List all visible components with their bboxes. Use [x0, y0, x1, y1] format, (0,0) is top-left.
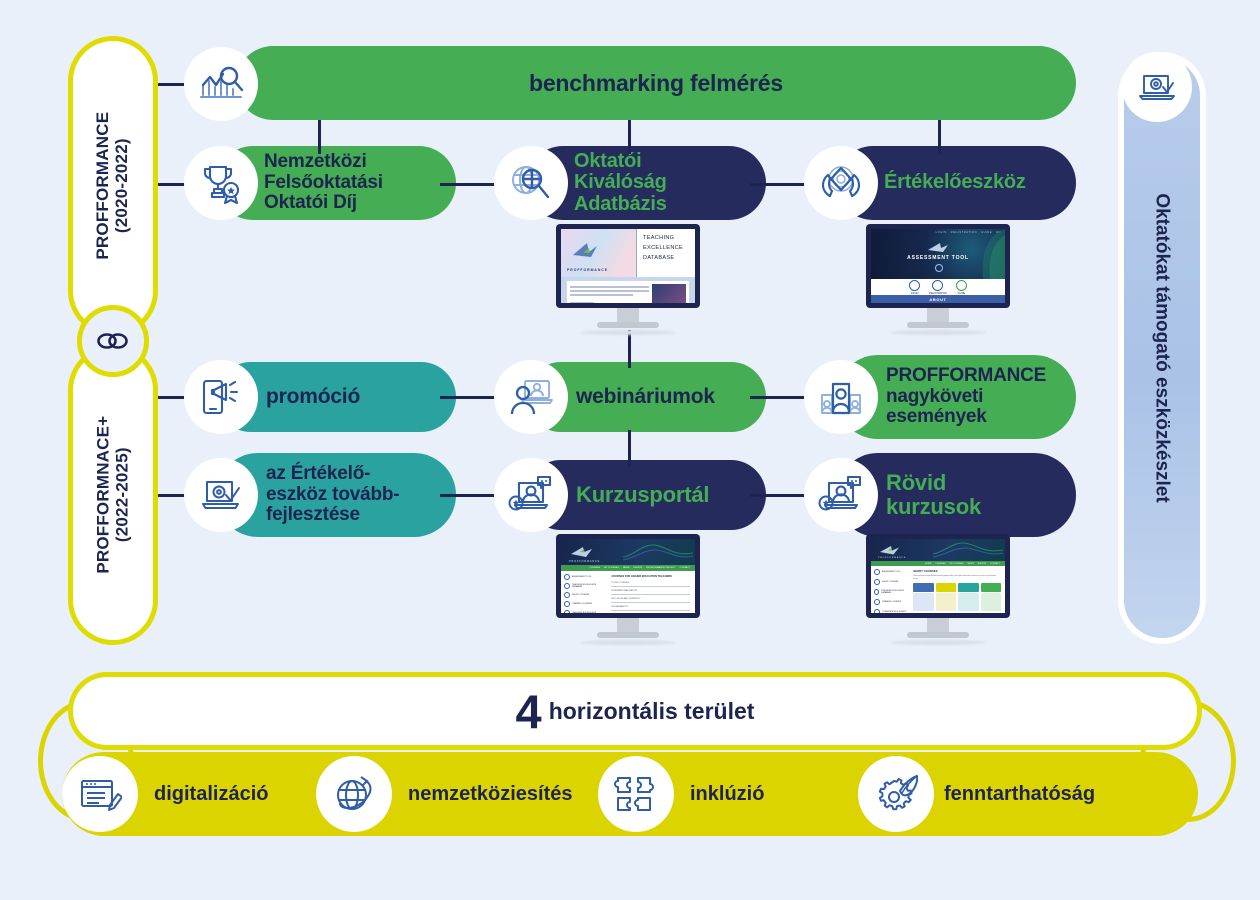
connector-promotion-to-webinars: [440, 396, 502, 399]
monitor-course-portal: PROFFORMANCE COURSES MY COURSES NEWS EVE…: [556, 534, 700, 645]
rail-profformance-label: PROFFORMANCE (2020-2022): [94, 112, 131, 260]
horizontal-area-label-digitalizacio: digitalizáció: [154, 783, 268, 806]
assessment-tool-screenshot: LOGIN REGISTRATION GUIDE EN ASSESSMENT T…: [871, 229, 1005, 303]
monitor-assessment-tool: LOGIN REGISTRATION GUIDE EN ASSESSMENT T…: [866, 224, 1010, 335]
course-portal-screenshot: PROFFORMANCE COURSES MY COURSES NEWS EVE…: [561, 539, 695, 613]
right-rail-label: Oktatókat támogató eszközkészlet: [1151, 193, 1173, 502]
document-pencil-icon: [62, 756, 138, 832]
hands-diamond-icon: [804, 146, 878, 220]
horizontal-area-label-fenntarthatosag: fenntarthatóság: [944, 783, 1095, 806]
teaching-excellence-database-screenshot: PROFFORMANCE TEACHINGEXCELLENCEDATABASE: [561, 229, 695, 303]
people-group-icon: [804, 360, 878, 434]
connector-benchmarking-to-database: [628, 120, 631, 154]
monitor-short-courses: PROFFORMANCE HOME COURSES MY COURSES NEW…: [866, 534, 1010, 645]
connector-webinars-to-ambassador: [750, 396, 812, 399]
bar-excellence-database-label: Oktatói Kiválóság Adatbázis: [574, 151, 667, 216]
monitor-teaching-excellence-database: PROFFORMANCE TEACHINGEXCELLENCEDATABASE: [556, 224, 700, 335]
horizontal-areas-title: horizontális terület: [549, 698, 755, 725]
person-laptop-icon: [494, 360, 568, 434]
rail-profformance-plus: PROFFORMNACE+ (2022-2025): [68, 345, 158, 645]
horizontal-areas-count: 4: [516, 688, 542, 735]
bar-benchmarking[interactable]: benchmarking felmérés: [236, 46, 1076, 120]
bar-assessment-tool-label: Értékelőeszköz: [884, 172, 1026, 194]
horizontal-area-label-nemzetkoziesites: nemzetköziesítés: [408, 783, 573, 806]
rail-profformance-plus-label: PROFFORMNACE+ (2022-2025): [94, 416, 131, 574]
puzzle-pieces-icon: [598, 756, 674, 832]
globe-magnifier-icon: [494, 146, 568, 220]
bar-teaching-award-label: Nemzetközi Felsőoktatási Oktatói Díj: [264, 152, 383, 214]
bar-ambassador-events-label: PROFFORMANCE nagyköveti események: [886, 366, 1046, 428]
gear-leaf-icon: [858, 756, 934, 832]
connector-database-to-webinars: [628, 330, 631, 368]
laptop-gear-check-icon: [1122, 52, 1192, 122]
rail-profformance: PROFFORMANCE (2020-2022): [68, 36, 158, 336]
bar-promotion-label: promóció: [266, 386, 360, 409]
connector-tooldev-to-portal: [440, 494, 502, 497]
connector-award-to-database: [440, 183, 502, 186]
horizontal-areas-title-bar: 4 horizontális terület: [68, 672, 1202, 750]
chart-magnifier-icon: [184, 47, 258, 121]
megaphone-phone-icon: [184, 360, 258, 434]
infographic-canvas: PROFFORMANCE (2020-2022) PROFFORMNACE+ (…: [0, 0, 1260, 900]
laptop-gear-check-icon: [184, 458, 258, 532]
short-courses-screenshot: PROFFORMANCE HOME COURSES MY COURSES NEW…: [871, 539, 1005, 613]
horizontal-area-label-inkluzio: inklúzió: [690, 783, 764, 806]
chain-link-icon: [77, 305, 149, 377]
trophy-medal-icon: [184, 146, 258, 220]
person-chat-laptop-star-icon: [804, 458, 878, 532]
right-rail-toolkit: Oktatókat támogató eszközkészlet: [1118, 52, 1206, 644]
bar-short-courses-label: Rövid kurzusok: [886, 471, 981, 519]
bar-benchmarking-label: benchmarking felmérés: [529, 71, 783, 96]
connector-webinars-to-portal: [628, 430, 631, 466]
bar-tool-development-label: az Értékelő- eszköz tovább- fejlesztése: [266, 464, 399, 526]
connector-benchmarking-to-award: [318, 120, 321, 154]
globe-orbit-icon: [316, 756, 392, 832]
connector-portal-to-short: [750, 494, 812, 497]
bar-webinars-label: webináriumok: [576, 386, 715, 409]
bar-course-portal-label: Kurzusportál: [576, 483, 709, 507]
connector-database-to-assessment: [750, 183, 812, 186]
person-chat-laptop-star-icon: [494, 458, 568, 532]
connector-benchmarking-to-assessment: [938, 120, 941, 154]
